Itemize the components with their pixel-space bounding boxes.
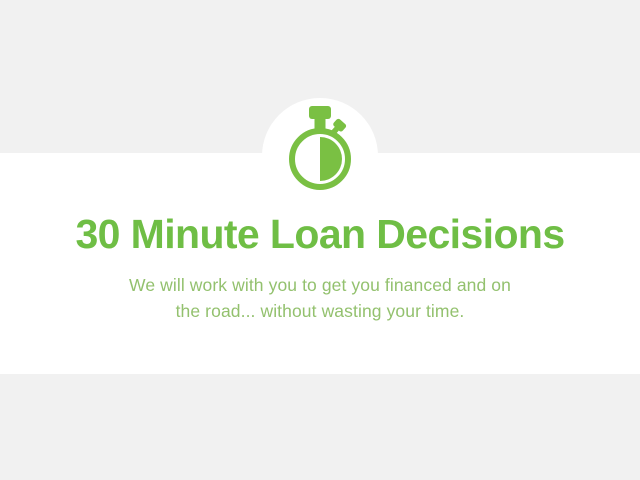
subtitle: We will work with you to get you finance… xyxy=(70,272,570,324)
promo-banner: 30 Minute Loan Decisions We will work wi… xyxy=(0,0,640,480)
stopwatch-icon xyxy=(275,106,365,191)
subtitle-line-1: We will work with you to get you finance… xyxy=(70,272,570,298)
subtitle-line-2: the road... without wasting your time. xyxy=(70,298,570,324)
page-title: 30 Minute Loan Decisions xyxy=(0,210,640,258)
